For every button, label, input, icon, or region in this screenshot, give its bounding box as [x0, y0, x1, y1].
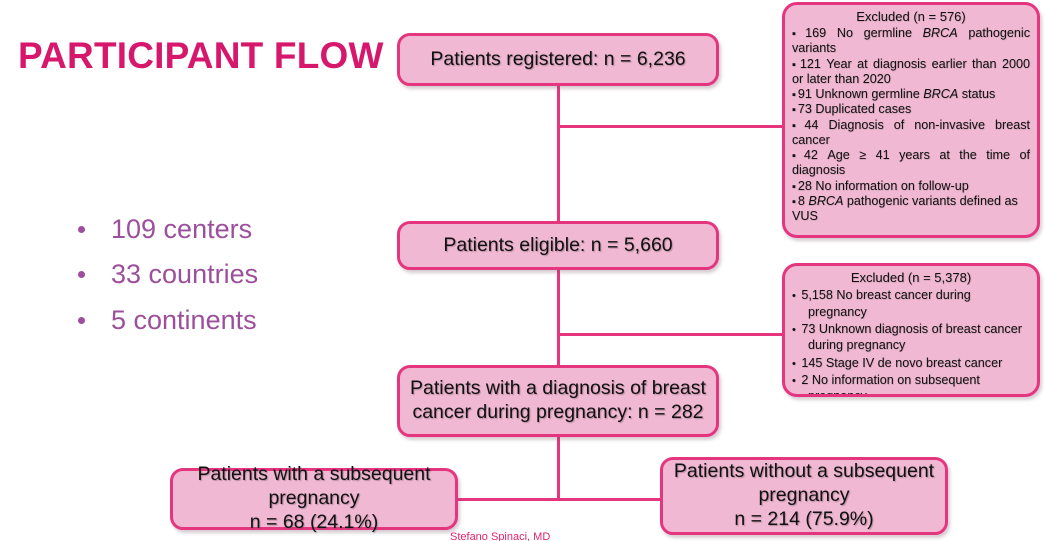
box-label: Patients without a subsequent pregnancy … — [666, 460, 942, 531]
box-patients-eligible[interactable]: Patients eligible: n = 5,660 — [397, 221, 719, 270]
exclusion-box-2[interactable]: Excluded (n = 5,378) • 5,158 No breast c… — [782, 263, 1040, 397]
square-bullet-icon: ▪ — [792, 196, 796, 208]
exclusion-title: Excluded (n = 576) — [792, 9, 1030, 25]
list-item: 33 countries — [78, 260, 378, 288]
list-item: ▪169 No germline BRCA pathogenic variant… — [792, 26, 1030, 56]
round-bullet-icon: • — [792, 358, 796, 370]
exclusion-text-post: status — [958, 87, 995, 101]
exclusion-count: 8 — [798, 194, 805, 208]
exclusion-count: 73 — [801, 322, 815, 336]
connector-registered-to-eligible — [557, 86, 560, 232]
round-bullet-icon: • — [792, 324, 796, 336]
box-label-line-1: Patients without a subsequent — [674, 460, 934, 482]
box-label-line-2: cancer during pregnancy: n = 282 — [412, 401, 703, 423]
box-label-line-3: n = 214 (75.9%) — [734, 508, 873, 530]
exclusion-title: Excluded (n = 5,378) — [792, 270, 1030, 286]
connector-to-exclusion-1 — [557, 125, 782, 128]
box-label-line-1: Patients with a diagnosis of breast — [410, 377, 706, 399]
list-item: ▪44 Diagnosis of non-invasive breast can… — [792, 118, 1030, 148]
exclusion-box-1[interactable]: Excluded (n = 576) ▪169 No germline BRCA… — [782, 2, 1040, 238]
gene-name: BRCA — [808, 194, 843, 208]
connector-to-exclusion-2 — [557, 333, 782, 336]
stat-label: 33 countries — [111, 260, 258, 288]
list-item: ▪8 BRCA pathogenic variants defined as V… — [792, 194, 1030, 224]
list-item: 5 continents — [78, 306, 378, 334]
gene-name: BRCA — [923, 26, 958, 40]
box-label: Patients registered: n = 6,236 — [422, 48, 693, 72]
gene-name: BRCA — [923, 87, 958, 101]
square-bullet-icon: ▪ — [792, 120, 802, 132]
list-item: ▪28 No information on follow-up — [792, 179, 1030, 194]
exclusion-text: Age ≥ 41 years at the time of diagnosis — [792, 148, 1030, 177]
exclusion-text: No breast cancer during — [836, 288, 970, 302]
exclusion-count: 5,158 — [801, 288, 833, 302]
list-item: ▪42 Age ≥ 41 years at the time of diagno… — [792, 148, 1030, 178]
square-bullet-icon: ▪ — [792, 59, 798, 71]
exclusion-text: Unknown germline — [815, 87, 923, 101]
list-item: ▪91 Unknown germline BRCA status — [792, 87, 1030, 102]
exclusion-count: 145 — [801, 356, 822, 370]
bullet-icon — [78, 226, 85, 233]
exclusion-text: No information on subsequent — [812, 373, 980, 387]
box-label: Patients with a subsequent pregnancy n =… — [173, 463, 455, 534]
square-bullet-icon: ▪ — [792, 181, 796, 193]
stat-label: 5 continents — [111, 306, 257, 334]
box-label-line-2: n = 68 (24.1%) — [250, 511, 378, 533]
box-label-line-2: pregnancy — [758, 484, 849, 506]
list-item: ▪121 Year at diagnosis earlier than 2000… — [792, 57, 1030, 87]
list-item: • 145 Stage IV de novo breast cancer — [792, 355, 1030, 371]
connector-eligible-to-diagnosis — [557, 268, 560, 368]
box-label: Patients with a diagnosis of breast canc… — [402, 377, 714, 425]
square-bullet-icon: ▪ — [792, 104, 796, 116]
square-bullet-icon: ▪ — [792, 150, 802, 162]
list-item: • 5,158 No breast cancer duringpregnancy — [792, 287, 1030, 320]
stat-label: 109 centers — [111, 215, 252, 243]
exclusion-count: 28 — [798, 179, 812, 193]
list-item: • 73 Unknown diagnosis of breast cancerd… — [792, 321, 1030, 354]
exclusion-text: Diagnosis of non-invasive breast cancer — [792, 118, 1030, 147]
exclusion-text-cont: during pregnancy — [801, 337, 1030, 353]
page-title: PARTICIPANT FLOW — [18, 35, 384, 77]
list-item: ▪73 Duplicated cases — [792, 102, 1030, 117]
connector-diagnosis-down — [557, 435, 560, 501]
exclusion-text: Duplicated cases — [815, 102, 911, 116]
list-item: 109 centers — [78, 215, 378, 243]
bullet-icon — [78, 271, 85, 278]
exclusion-text: No information on follow-up — [815, 179, 968, 193]
author-caption: Stefano Spinaci, MD — [450, 531, 650, 541]
exclusion-text-cont: pregnancy — [801, 388, 1030, 397]
participant-flow-diagram: PARTICIPANT FLOW 109 centers 33 countrie… — [0, 0, 1045, 541]
exclusion-text: No germline — [837, 26, 923, 40]
box-with-subsequent-pregnancy[interactable]: Patients with a subsequent pregnancy n =… — [170, 468, 458, 530]
exclusion-count: 42 — [804, 148, 818, 162]
exclusion-count: 73 — [798, 102, 812, 116]
box-without-subsequent-pregnancy[interactable]: Patients without a subsequent pregnancy … — [660, 457, 948, 535]
connector-bottom-split — [457, 498, 667, 501]
exclusion-reason-list: ▪169 No germline BRCA pathogenic variant… — [792, 26, 1030, 224]
box-label-line-1: Patients with a subsequent pregnancy — [197, 463, 430, 509]
square-bullet-icon: ▪ — [792, 89, 796, 101]
exclusion-reason-list: • 5,158 No breast cancer duringpregnancy… — [792, 287, 1030, 397]
exclusion-count: 169 — [805, 26, 826, 40]
square-bullet-icon: ▪ — [792, 28, 803, 40]
box-label: Patients eligible: n = 5,660 — [435, 234, 680, 258]
bullet-icon — [78, 317, 85, 324]
exclusion-count: 44 — [804, 118, 818, 132]
round-bullet-icon: • — [792, 375, 796, 387]
exclusion-text-cont: pregnancy — [801, 304, 1030, 320]
exclusion-count: 2 — [801, 373, 808, 387]
study-stats-list: 109 centers 33 countries 5 continents — [78, 215, 378, 351]
exclusion-count: 121 — [800, 57, 821, 71]
exclusion-count: 91 — [798, 87, 812, 101]
exclusion-text: Unknown diagnosis of breast cancer — [819, 322, 1022, 336]
box-patients-registered[interactable]: Patients registered: n = 6,236 — [397, 33, 719, 86]
exclusion-text: Year at diagnosis earlier than 2000 or l… — [792, 57, 1030, 86]
round-bullet-icon: • — [792, 290, 796, 302]
list-item: • 2 No information on subsequentpregnanc… — [792, 372, 1030, 397]
box-breast-cancer-during-pregnancy[interactable]: Patients with a diagnosis of breast canc… — [397, 365, 719, 437]
exclusion-text: Stage IV de novo breast cancer — [826, 356, 1002, 370]
